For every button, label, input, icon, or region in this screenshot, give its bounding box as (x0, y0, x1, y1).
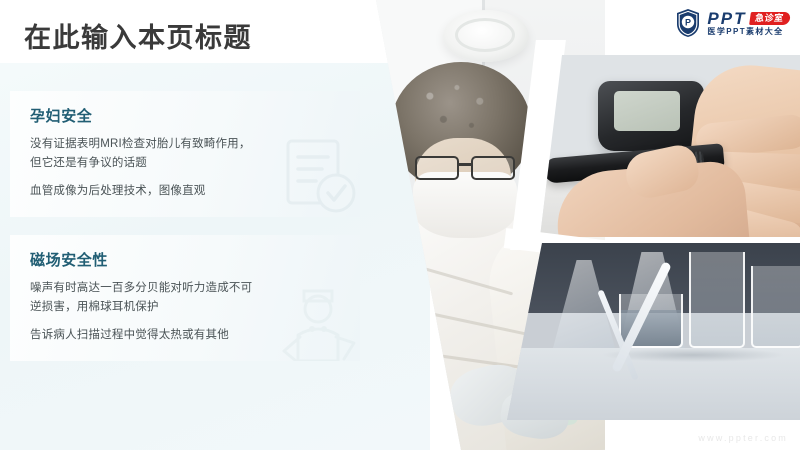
card-line: 噪声有时高达一百多分贝能对听力造成不可 (30, 279, 340, 298)
photo-laboratory-glassware (507, 243, 800, 420)
card-line: 逆损害，用棉球耳机保护 (30, 298, 340, 317)
card-line: 告诉病人扫描过程中觉得太热或有其他 (30, 326, 340, 345)
photo-collage (355, 0, 800, 450)
card-line: 但它还是有争议的话题 (30, 154, 340, 173)
info-card-list: 孕妇安全 没有证据表明MRI检查对胎儿有致畸作用， 但它还是有争议的话题 血管成… (10, 91, 360, 361)
card-title: 磁场安全性 (30, 252, 340, 270)
card-line: 没有证据表明MRI检查对胎儿有致畸作用， (30, 135, 340, 154)
info-card-maternal-safety: 孕妇安全 没有证据表明MRI检查对胎儿有致畸作用， 但它还是有争议的话题 血管成… (10, 91, 360, 217)
page-title: 在此输入本页标题 (24, 22, 252, 54)
photo-blood-glucose-meter-test (540, 55, 800, 237)
slide-root: 在此输入本页标题 P PPT 急诊室 医学PPT素材大全 孕妇安全 没有证据表明… (0, 0, 800, 450)
card-line: 血管成像为后处理技术，图像直观 (30, 182, 340, 201)
footer-watermark: www.ppter.com (698, 433, 788, 443)
card-title: 孕妇安全 (30, 108, 340, 126)
info-card-magnetic-safety: 磁场安全性 噪声有时高达一百多分贝能对听力造成不可 逆损害，用棉球耳机保护 告诉… (10, 235, 360, 361)
